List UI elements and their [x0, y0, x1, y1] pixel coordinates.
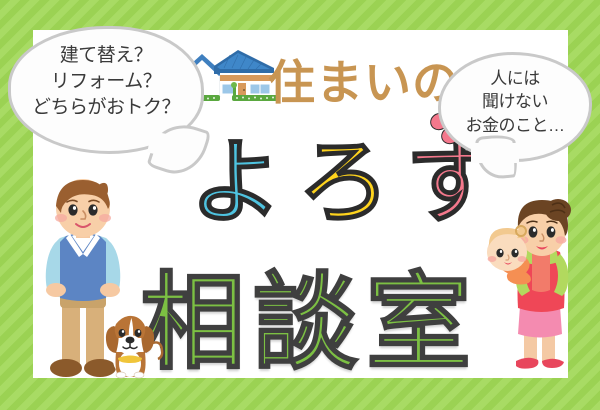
- bubble-right-line-1: 人には: [441, 67, 589, 90]
- title-char-ro: ろ: [298, 129, 406, 236]
- mother-holding-baby-character: [480, 196, 585, 378]
- bubble-left-line-1: 建て替え？: [11, 43, 201, 69]
- poster-canvas: 住まいの よろす 相談室 建て替え？ リフォーム？ どちらがおトク？ 人には 聞…: [0, 0, 600, 410]
- bottom-title-text: 相談室: [140, 238, 479, 390]
- beagle-dog-character: [104, 312, 164, 378]
- subtitle-text: 住まいの: [268, 44, 460, 113]
- bubble-left-line-3: どちらがおトク？: [11, 95, 201, 121]
- bubble-right-line-3: お金のこと…: [441, 114, 589, 137]
- question-bubble-right: 人には 聞けない お金のこと…: [438, 52, 592, 162]
- bubble-right-line-2: 聞けない: [441, 90, 589, 113]
- bubble-right-tail-mask: [471, 143, 519, 163]
- question-bubble-left: 建て替え？ リフォーム？ どちらがおトク？: [8, 26, 204, 154]
- bubble-left-line-2: リフォーム？: [11, 69, 201, 95]
